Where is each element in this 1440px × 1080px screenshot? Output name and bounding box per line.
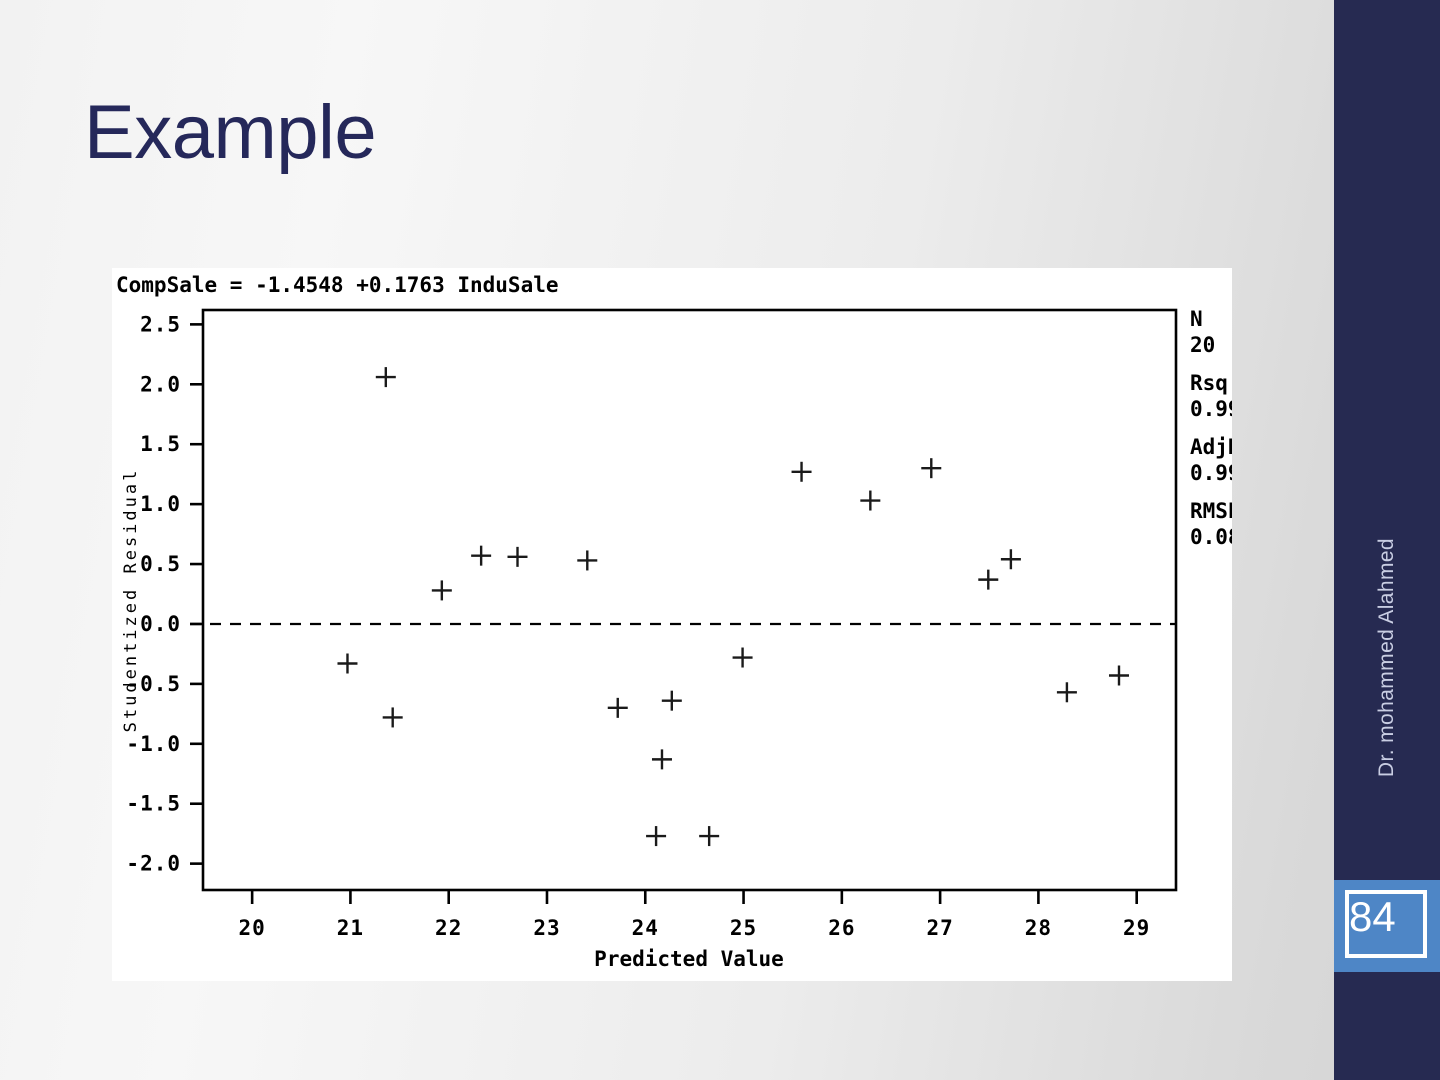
stat-value: 0.08 <box>1190 525 1232 549</box>
stat-label: N <box>1190 307 1203 331</box>
x-tick-label: 25 <box>730 916 757 940</box>
y-tick-label: -2.0 <box>126 852 181 876</box>
x-tick-label: 21 <box>337 916 364 940</box>
y-tick-label: 0.0 <box>140 612 181 636</box>
page-title: Example <box>84 92 376 174</box>
stat-value: 0.99 <box>1190 397 1232 421</box>
x-tick-label: 27 <box>926 916 953 940</box>
y-axis-label: Studentized Residual <box>121 468 141 733</box>
x-tick-label: 24 <box>632 916 659 940</box>
y-tick-label: 0.5 <box>140 552 181 576</box>
y-tick-label: 1.5 <box>140 432 181 456</box>
y-tick-label: 1.0 <box>140 492 181 516</box>
x-tick-label: 29 <box>1123 916 1150 940</box>
stat-label: AdjR <box>1190 435 1232 459</box>
stat-value: 20 <box>1190 333 1215 357</box>
x-tick-label: 26 <box>828 916 855 940</box>
author-credit-text: Dr. mohammed Alahmed <box>1375 538 1399 777</box>
y-tick-label: 2.0 <box>140 372 181 396</box>
residual-plot-svg: CompSale = -1.4548 +0.1763 InduSale 2.52… <box>112 268 1232 981</box>
y-tick-label: -1.5 <box>126 792 181 816</box>
x-tick-label: 28 <box>1025 916 1052 940</box>
slide-canvas: Example CompSale = -1.4548 +0.1763 InduS… <box>0 0 1440 1080</box>
x-axis-label: Predicted Value <box>594 947 784 971</box>
chart-equation-title: CompSale = -1.4548 +0.1763 InduSale <box>116 273 559 297</box>
x-tick-label: 22 <box>435 916 462 940</box>
residual-plot-image: CompSale = -1.4548 +0.1763 InduSale 2.52… <box>112 268 1232 981</box>
y-tick-label: -1.0 <box>126 732 181 756</box>
stat-label: Rsq <box>1190 371 1228 395</box>
page-number: 84 <box>1349 896 1396 938</box>
stat-label: RMSE <box>1190 499 1232 523</box>
y-tick-label: 2.5 <box>140 312 181 336</box>
x-tick-label: 23 <box>533 916 560 940</box>
stat-value: 0.99 <box>1190 461 1232 485</box>
x-tick-label: 20 <box>238 916 265 940</box>
